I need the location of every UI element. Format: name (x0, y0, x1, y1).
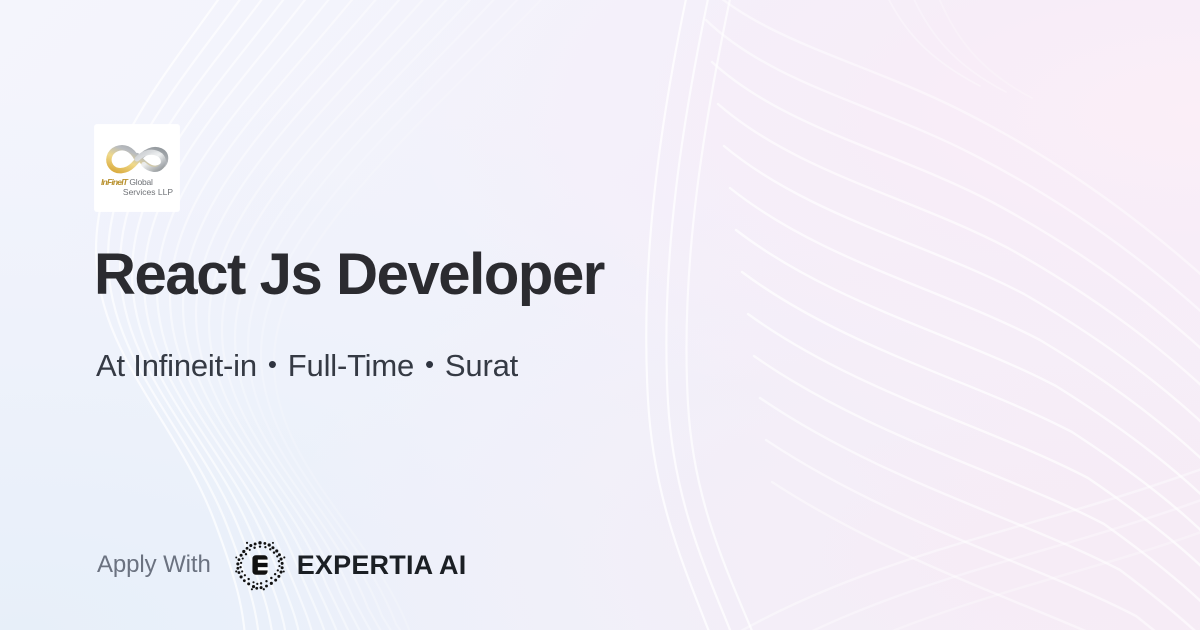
job-meta-location: Surat (445, 345, 518, 387)
company-logo: InFineIT Global Services LLP (95, 125, 179, 211)
job-meta-separator-2: • (425, 351, 434, 377)
job-banner: InFineIT Global Services LLP React Js De… (0, 0, 1200, 630)
job-meta-company: At Infineit-in (96, 345, 257, 387)
job-meta-separator-1: • (268, 351, 277, 377)
company-logo-wordmark: InFineIT Global Services LLP (95, 177, 179, 197)
expertia-ai-logo[interactable]: EXPERTIA AI (233, 538, 467, 592)
job-title: React Js Developer (94, 243, 604, 307)
job-meta-employment-type: Full-Time (288, 345, 414, 387)
job-meta: At Infineit-in • Full-Time • Surat (96, 345, 518, 387)
contour-background-decoration (0, 0, 1200, 630)
company-logo-subtitle: Services LLP (101, 187, 174, 197)
company-logo-brand-suffix: Global (127, 177, 153, 187)
apply-with-label: Apply With (97, 551, 211, 579)
infinity-icon (103, 142, 171, 176)
company-logo-brand: InFineIT (101, 177, 127, 187)
apply-with-row: Apply With (97, 543, 466, 587)
expertia-ai-wordmark: EXPERTIA AI (297, 550, 467, 580)
expertia-e-icon (233, 538, 287, 592)
